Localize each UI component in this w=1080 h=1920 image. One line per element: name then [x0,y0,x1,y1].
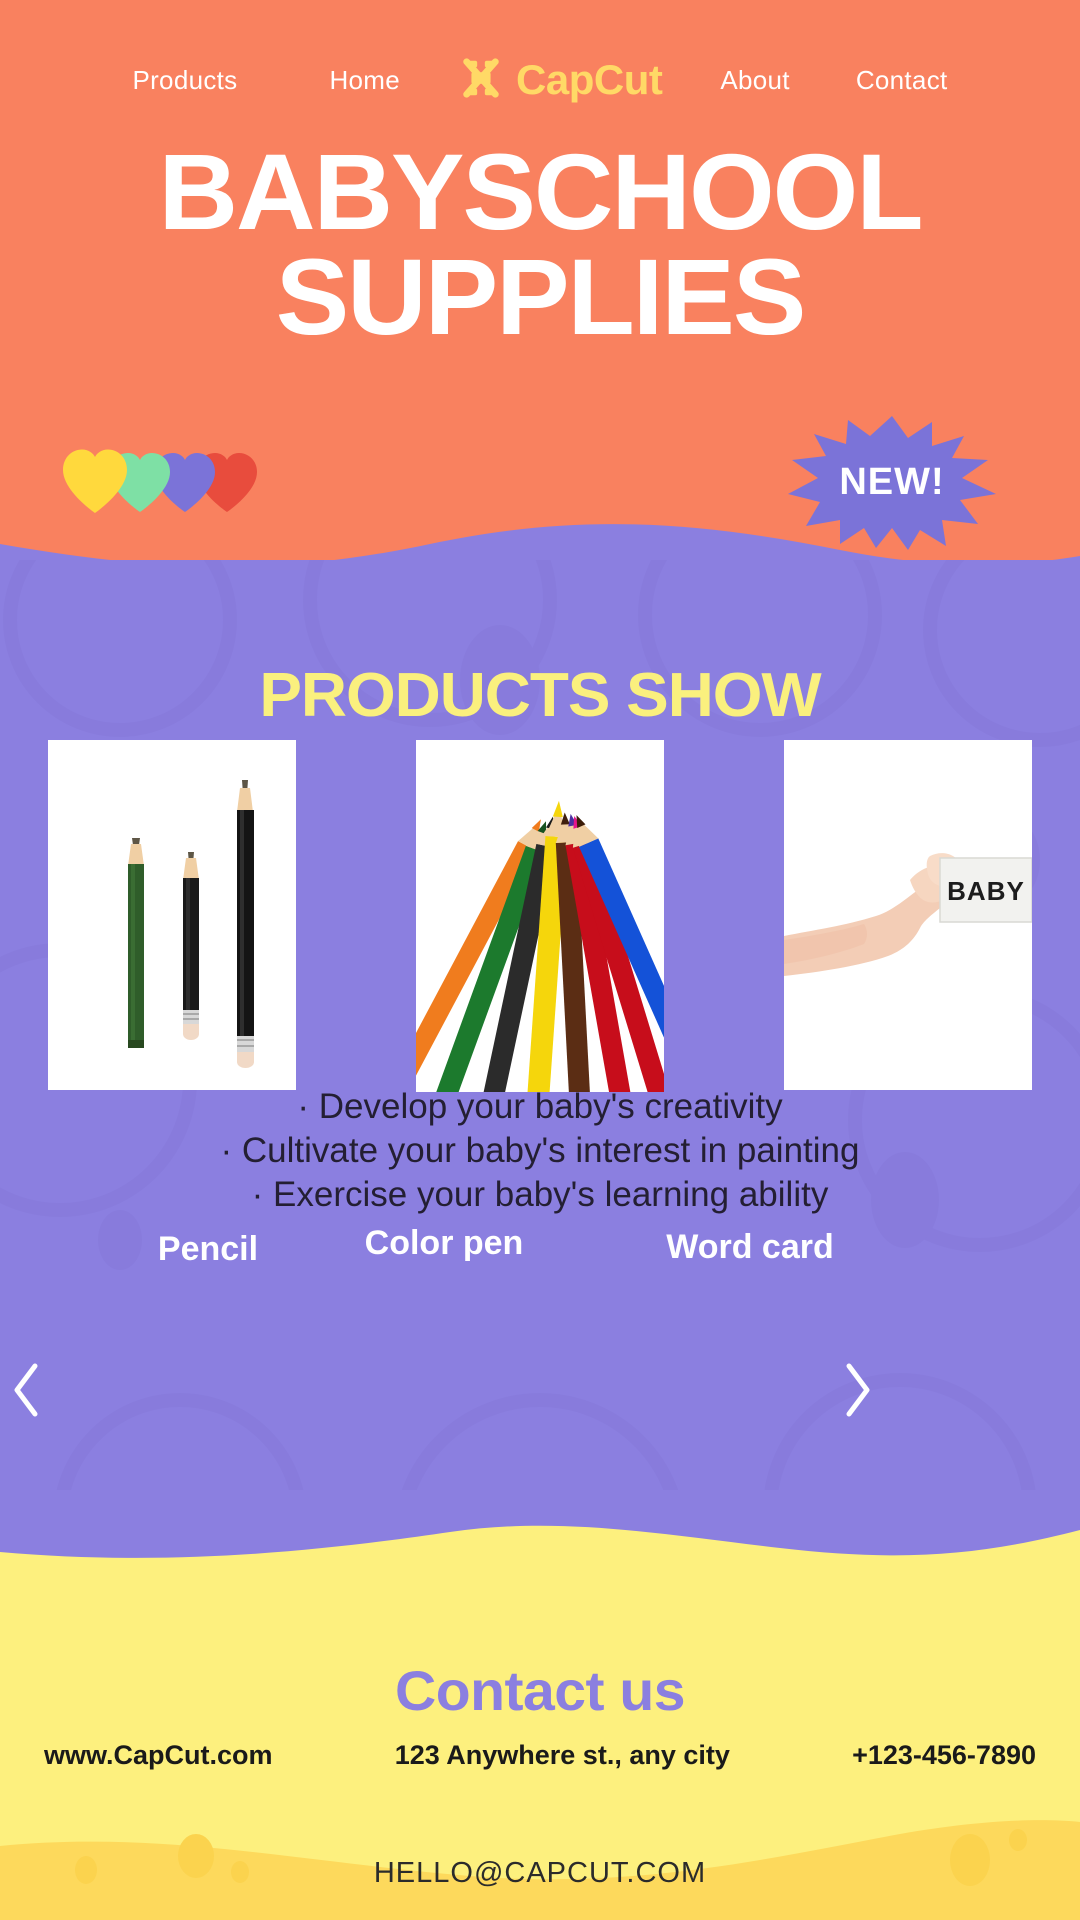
hero-title-line-1: BABYSCHOOL [159,131,922,252]
contact-title: Contact us [0,1658,1080,1723]
product-card-color-pen[interactable] [416,740,664,1092]
feature-bullet-1: · Develop your baby's creativity [0,1085,1080,1129]
carousel-prev-arrow[interactable] [8,1360,44,1420]
nav-item-products[interactable]: Products [132,65,237,96]
product-card-pencil[interactable] [48,740,296,1090]
svg-text:BABY: BABY [947,876,1025,906]
colored-pencils-photo [416,740,664,1092]
hero-title-line-2: SUPPLIES [0,245,1080,350]
capcut-logo-icon [458,55,504,106]
nav-item-home[interactable]: Home [329,65,400,96]
feature-bullets: · Develop your baby's creativity · Culti… [0,1085,1080,1217]
nav-item-contact[interactable]: Contact [856,65,948,96]
product-label-word-card: Word card [626,1228,874,1267]
contact-top-wave [0,1490,1080,1600]
nav-right-group: About Contact [720,65,947,96]
product-label-pencil: Pencil [84,1230,332,1269]
brand-name: CapCut [516,56,662,104]
pencils-photo [48,740,296,1090]
brand-logo[interactable]: CapCut [458,55,662,106]
contact-section: Contact us www.CapCut.com 123 Anywhere s… [0,1490,1080,1920]
feature-bullet-2: · Cultivate your baby's interest in pain… [0,1129,1080,1173]
footer-wave [0,1760,1080,1920]
product-card-word-card[interactable]: BABY [784,740,1032,1090]
contact-email[interactable]: HELLO@CAPCUT.COM [0,1857,1080,1890]
section-title: PRODUCTS SHOW [0,660,1080,731]
hero-section: Products Home CapCut About [0,0,1080,600]
carousel-next-arrow[interactable] [840,1360,876,1420]
chevron-left-icon [8,1360,44,1420]
feature-bullet-3: · Exercise your baby's learning ability [0,1173,1080,1217]
main-navigation: Products Home CapCut About [0,52,1080,108]
nav-left-group: Products Home [132,65,400,96]
nav-item-about[interactable]: About [720,65,789,96]
chevron-right-icon [840,1360,876,1420]
hand-holding-word-card-photo: BABY [784,740,1032,1090]
poster-page: Products Home CapCut About [0,0,1080,1920]
product-label-color-pen: Color pen [320,1224,568,1263]
page-title: BABYSCHOOL SUPPLIES [0,140,1080,350]
products-section: PRODUCTS SHOW [0,560,1080,1560]
